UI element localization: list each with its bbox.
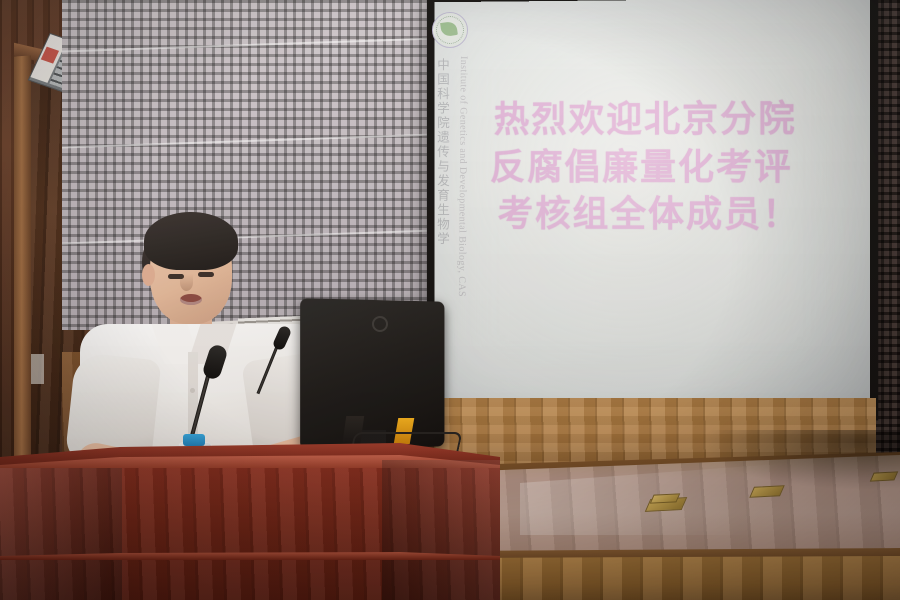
mouth bbox=[180, 294, 202, 305]
ear bbox=[142, 264, 155, 286]
institute-seal-icon bbox=[432, 12, 468, 48]
slide-heading-line-2: 反腐倡廉量化考评 bbox=[490, 143, 843, 191]
monitor-brand-logo-icon bbox=[372, 316, 388, 332]
panel-seam bbox=[62, 134, 434, 149]
door-sign bbox=[30, 354, 44, 384]
podium-bevel bbox=[382, 460, 500, 600]
hair bbox=[144, 212, 238, 270]
slide-heading-line-3: 考核组全体成员！ bbox=[498, 191, 844, 239]
slide-vertical-text-en: Institute of Genetics and Developmental … bbox=[451, 56, 469, 297]
shirt-button bbox=[190, 388, 195, 393]
podium-bevel bbox=[0, 468, 122, 600]
lecture-hall-photo: 中国科学院遗传与发育生物学 Institute of Genetics and … bbox=[0, 0, 900, 600]
slide-vertical-text-cn: 中国科学院遗传与发育生物学 bbox=[434, 58, 452, 247]
water-bottle-cap bbox=[183, 434, 205, 446]
door-frame bbox=[14, 56, 31, 477]
eye bbox=[198, 272, 214, 277]
floor-outlet bbox=[650, 493, 681, 503]
slide-heading-line-1: 热烈欢迎北京分院 bbox=[494, 95, 843, 143]
floor-outlet bbox=[749, 485, 785, 498]
slide-heading-block: 热烈欢迎北京分院 反腐倡廉量化考评 考核组全体成员！ bbox=[494, 95, 843, 239]
floor-outlet bbox=[870, 471, 898, 481]
panel-seam bbox=[62, 38, 434, 53]
nose bbox=[180, 274, 193, 291]
